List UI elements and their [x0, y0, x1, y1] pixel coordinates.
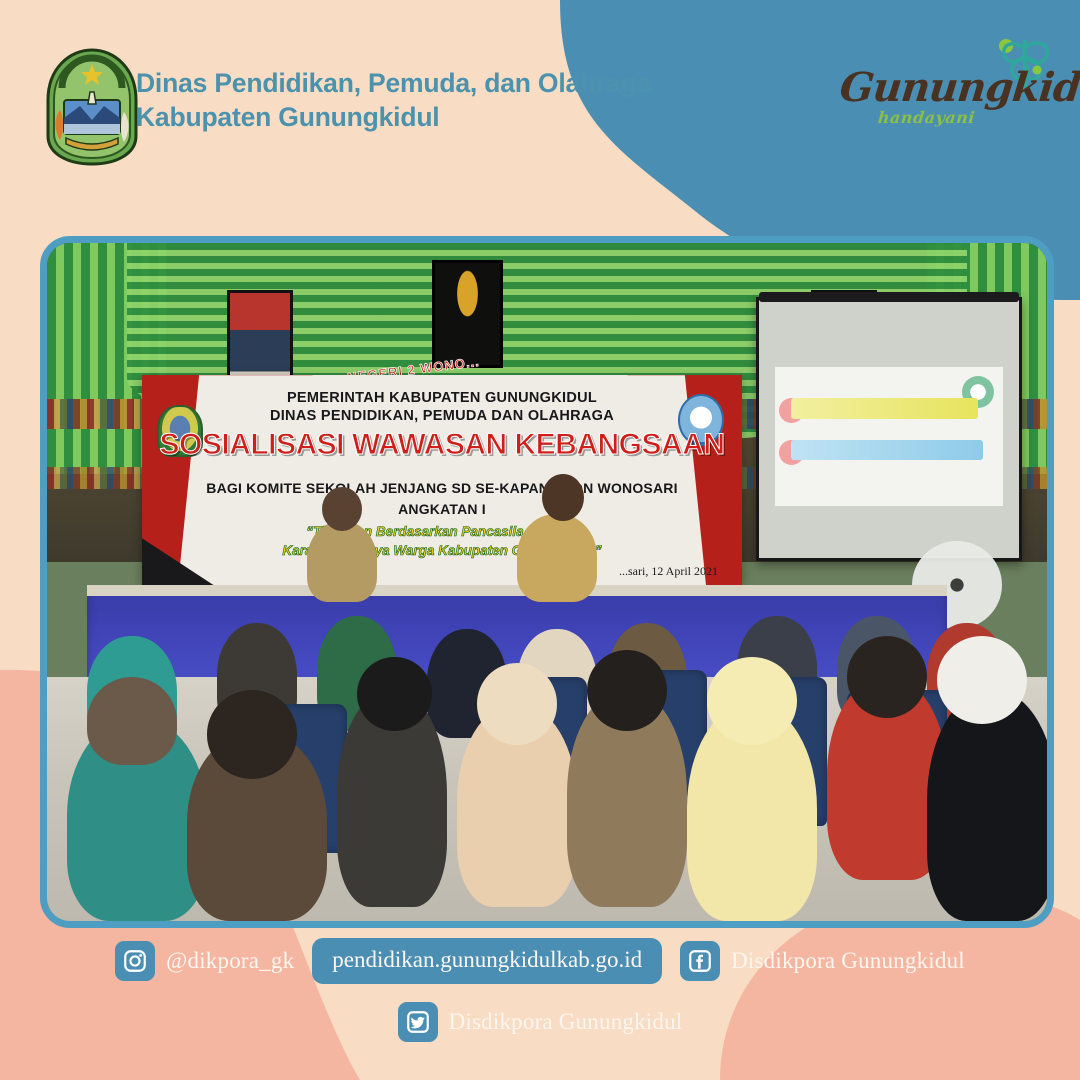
- audience-person-front-dark: [927, 690, 1047, 921]
- audience-head: [587, 650, 667, 731]
- banner-quote-line-1: “Tindakan Berdasarkan Pancasila sebagai: [142, 524, 742, 539]
- projector-screen-rod: [759, 292, 1019, 302]
- banner-title: SOSIALISASI WAWASAN KEBANGSAAN: [142, 428, 742, 462]
- event-banner: PEMERINTAH KABUPATEN GUNUNGKIDUL DINAS P…: [142, 375, 742, 585]
- audience-head: [847, 636, 927, 717]
- header-org-line-2: Kabupaten Gunungkidul: [136, 100, 651, 134]
- event-photo-frame: NEGERI 2 WONO...: [40, 236, 1054, 928]
- poster-footer: @dikpora_gk pendidikan.gunungkidulkab.go…: [0, 920, 1080, 1080]
- audience-head-songkok: [357, 657, 432, 732]
- facebook-item[interactable]: Disdikpora Gunungkidul: [680, 941, 965, 981]
- footer-row-secondary: Disdikpora Gunungkidul: [0, 1002, 1080, 1042]
- footer-row-primary: @dikpora_gk pendidikan.gunungkidulkab.go…: [0, 938, 1080, 984]
- banner-date: ...sari, 12 April 2021: [619, 564, 718, 579]
- instagram-handle: @dikpora_gk: [166, 948, 294, 974]
- gunungkidul-regency-coat-of-arms: [44, 48, 140, 166]
- audience-head: [207, 690, 297, 778]
- website-pill[interactable]: pendidikan.gunungkidulkab.go.id: [312, 938, 662, 984]
- event-photograph: NEGERI 2 WONO...: [47, 243, 1047, 921]
- speaker-right-body: [517, 514, 597, 602]
- website-url: pendidikan.gunungkidulkab.go.id: [332, 947, 642, 972]
- gunungkidul-brand-logo: Gunungkidul handayani: [832, 34, 1058, 138]
- speaker-right-head: [542, 474, 584, 521]
- audience-head-hijab: [707, 657, 797, 745]
- twitter-handle: Disdikpora Gunungkidul: [449, 1009, 683, 1035]
- facebook-handle: Disdikpora Gunungkidul: [731, 948, 965, 974]
- slide-bar-yellow: [791, 398, 979, 419]
- banner-quote-line-2: Karakter Budaya Warga Kabupaten Gunungki…: [142, 543, 742, 558]
- speaker-left-head: [322, 487, 362, 531]
- audience-head: [87, 677, 177, 765]
- audience-head-peci: [937, 636, 1027, 724]
- brand-wordmark: Gunungkidul: [838, 64, 1080, 111]
- brand-tagline: handayani: [877, 108, 976, 127]
- header-org-name: Dinas Pendidikan, Pemuda, dan Olahraga K…: [136, 66, 651, 134]
- projector-screen: [756, 297, 1022, 561]
- banner-line-1: PEMERINTAH KABUPATEN GUNUNGKIDUL: [142, 390, 742, 406]
- garuda-pancasila-emblem: [432, 260, 503, 368]
- slide-bar-blue: [791, 440, 983, 461]
- banner-line-2: DINAS PENDIDIKAN, PEMUDA DAN OLAHRAGA: [142, 408, 742, 424]
- audience-head-hijab: [477, 663, 557, 744]
- projected-slide: [775, 367, 1004, 506]
- facebook-icon[interactable]: [680, 941, 720, 981]
- speaker-left-body: [307, 521, 377, 602]
- twitter-icon[interactable]: [398, 1002, 438, 1042]
- banner-line-4: ANGKATAN I: [142, 501, 742, 517]
- instagram-icon[interactable]: [115, 941, 155, 981]
- banner-line-3: BAGI KOMITE SEKOLAH JENJANG SD SE-KAPANE…: [142, 480, 742, 496]
- header-org-line-1: Dinas Pendidikan, Pemuda, dan Olahraga: [136, 66, 651, 100]
- twitter-item[interactable]: Disdikpora Gunungkidul: [398, 1002, 683, 1042]
- social-media-poster: Dinas Pendidikan, Pemuda, dan Olahraga K…: [0, 0, 1080, 1080]
- poster-header: Dinas Pendidikan, Pemuda, dan Olahraga K…: [0, 0, 1080, 200]
- instagram-item[interactable]: @dikpora_gk: [115, 941, 294, 981]
